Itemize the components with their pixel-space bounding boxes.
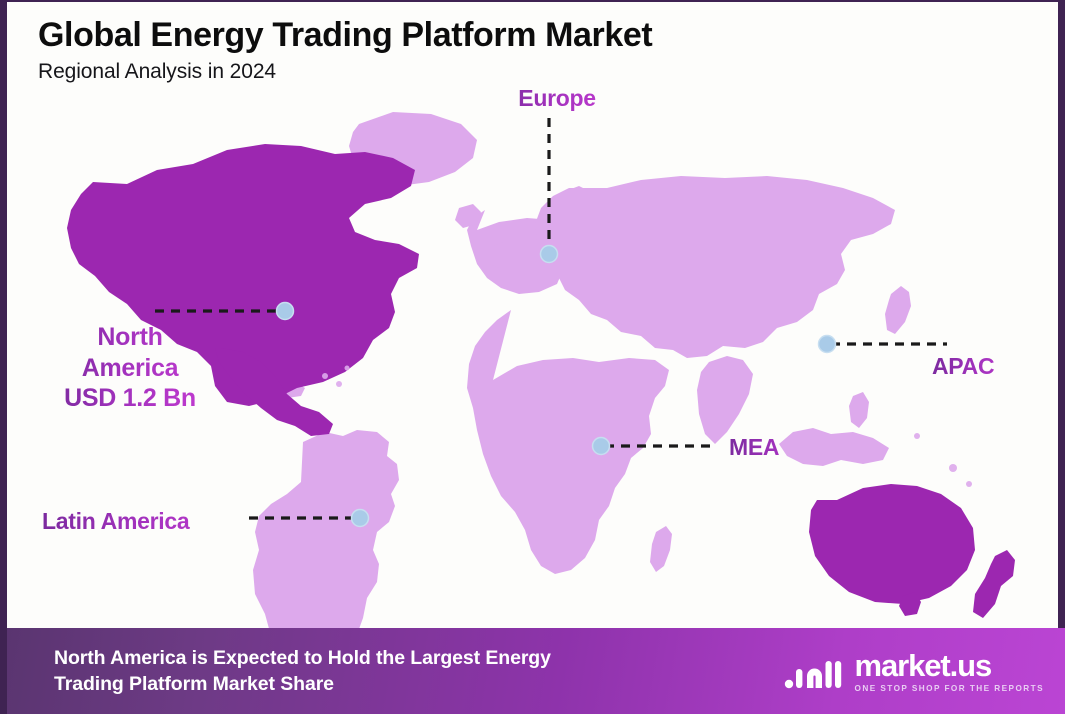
logo-tagline: ONE STOP SHOP FOR THE REPORTS	[855, 684, 1044, 693]
region-south-america	[253, 430, 399, 630]
bottom-banner: North America is Expected to Hold the La…	[7, 628, 1065, 714]
region-australia	[809, 484, 975, 604]
market-us-logo-icon	[784, 649, 844, 693]
region-asia	[535, 176, 895, 358]
page-title: Global Energy Trading Platform Market	[38, 16, 938, 54]
region-japan	[885, 286, 911, 334]
region-label-apac: APAC	[932, 352, 1032, 380]
logo-text-block: market.us ONE STOP SHOP FOR THE REPORTS	[855, 650, 1044, 693]
region-africa	[467, 310, 669, 574]
region-label-north-america: North America USD 1.2 Bn	[55, 322, 205, 414]
region-philippines	[849, 392, 869, 428]
header: Global Energy Trading Platform Market Re…	[38, 16, 938, 84]
brand-logo: market.us ONE STOP SHOP FOR THE REPORTS	[784, 649, 1044, 693]
banner-headline: North America is Expected to Hold the La…	[54, 645, 551, 697]
region-india	[697, 356, 753, 444]
region-label-mea: MEA	[729, 433, 839, 461]
region-madagascar	[650, 526, 672, 572]
infographic-root: Global Energy Trading Platform Market Re…	[0, 0, 1065, 714]
logo-wordmark: market.us	[855, 650, 1044, 681]
region-label-latin-america: Latin America	[42, 507, 252, 535]
region-label-europe: Europe	[497, 84, 617, 112]
region-new-zealand	[973, 550, 1015, 618]
